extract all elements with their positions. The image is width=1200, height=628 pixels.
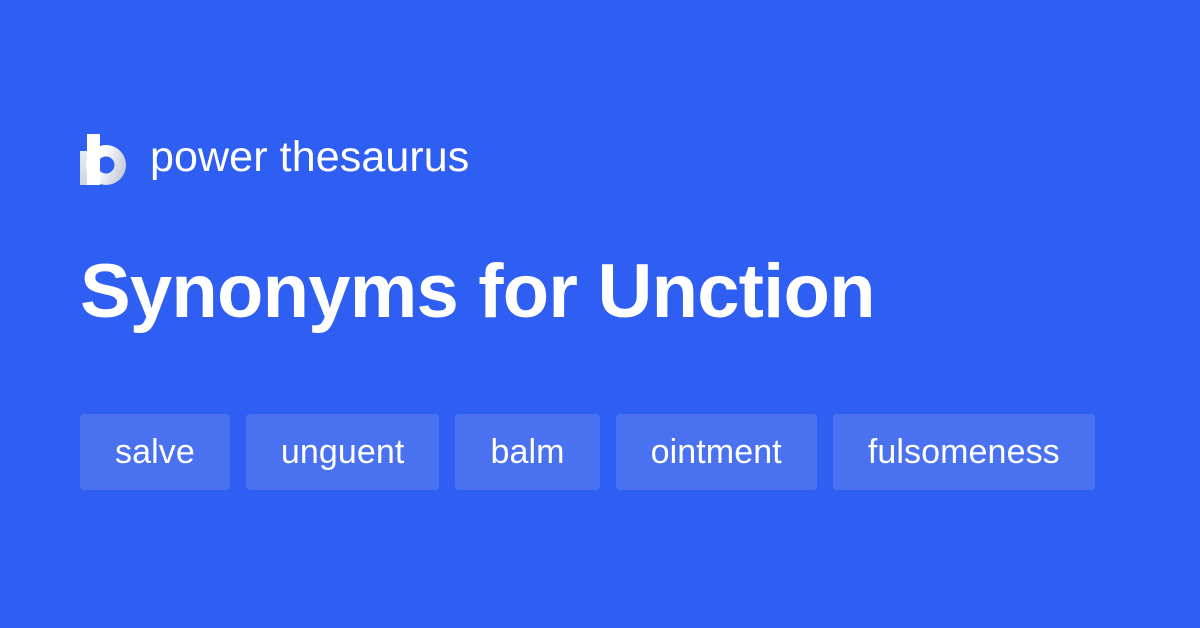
synonym-chip[interactable]: unguent [246, 414, 440, 490]
synonym-chip[interactable]: fulsomeness [833, 414, 1095, 490]
synonym-chip[interactable]: ointment [616, 414, 817, 490]
brand-header[interactable]: power thesaurus [80, 128, 469, 186]
social-card: power thesaurus Synonyms for Unction sal… [0, 0, 1200, 628]
synonym-chip[interactable]: balm [455, 414, 599, 490]
brand-name: power thesaurus [150, 136, 469, 179]
synonym-list: salve unguent balm ointment fulsomeness [80, 414, 1120, 490]
synonym-chip[interactable]: salve [80, 414, 230, 490]
power-thesaurus-b-logo-icon [80, 129, 128, 185]
page-title: Synonyms for Unction [80, 248, 875, 336]
